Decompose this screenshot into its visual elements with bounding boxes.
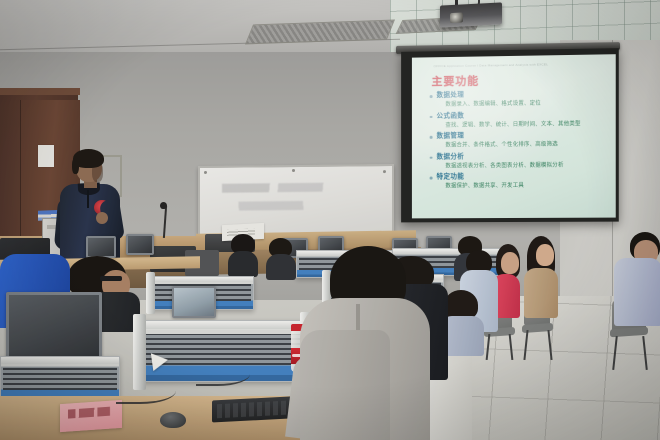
monitor-foreground[interactable] [6, 292, 102, 366]
handwriting [68, 407, 110, 419]
monitor[interactable] [126, 234, 154, 255]
slide-section: 特定功能 数据保护、数据共享、开发工具 [429, 171, 610, 191]
classroom-scene: OFFICE Application Course I Data Managem… [0, 0, 660, 440]
whiteboard-writing [222, 182, 362, 217]
slide-section-heading: 数据分析 [429, 151, 610, 163]
air-vent-panel [245, 20, 395, 45]
slide-title: 主要功能 [432, 72, 480, 89]
attendee-lavender-shirt [614, 232, 660, 324]
projection-screen-surface: OFFICE Application Course I Data Managem… [412, 54, 616, 218]
eyeglasses [100, 276, 122, 281]
projector-lens [450, 12, 463, 23]
slide-section-detail: 数据保护、数据共享、开发工具 [429, 181, 610, 191]
attendee-grey-sleeve [300, 330, 390, 440]
torso [228, 251, 258, 277]
cabinet-top [0, 88, 80, 95]
partition-top-rail [141, 321, 309, 329]
whiteboard-screw [204, 171, 207, 174]
slide-section: 公式函数 查找、逻辑、数学、统计、日期时间、文本、其他类型 [429, 109, 610, 130]
instructor-hair-side [72, 158, 79, 174]
slide-section-detail: 数据透视表分析、各类图表分析、数据模拟分析 [429, 161, 610, 171]
head [536, 244, 554, 266]
slide-section-heading: 数据管理 [429, 130, 610, 142]
monitor[interactable] [86, 236, 116, 258]
slide-section-detail: 数据合并、条件格式、个性化排序、高级筛选 [429, 140, 610, 151]
arm [300, 330, 390, 440]
partition-louvre [3, 367, 117, 390]
slide-body: 数据处理 数据录入、数据编辑、格式设置、定位 公式函数 查找、逻辑、数学、统计、… [429, 89, 610, 193]
slide-section-heading: 公式函数 [429, 109, 610, 121]
wall-notice [38, 145, 54, 167]
whiteboard-screw [383, 170, 386, 173]
projection-screen: OFFICE Application Course I Data Managem… [401, 48, 619, 222]
paper-airplane [151, 351, 169, 371]
gooseneck-microphone [160, 202, 167, 209]
partition-post [146, 272, 155, 314]
pink-name-card [60, 400, 122, 432]
slide-section-heading: 特定功能 [429, 171, 610, 182]
monitor[interactable] [172, 286, 216, 318]
head [501, 252, 519, 274]
slide-section: 数据管理 数据合并、条件格式、个性化排序、高级筛选 [429, 130, 610, 151]
partition-top-rail [1, 357, 119, 364]
torso [266, 254, 296, 280]
slide-section: 数据分析 数据透视表分析、各类图表分析、数据模拟分析 [429, 151, 610, 172]
partition-post [133, 314, 146, 390]
slide-section: 数据处理 数据录入、数据编辑、格式设置、定位 [429, 89, 610, 110]
instructor-placket [87, 190, 89, 208]
torso [524, 268, 558, 318]
partition-top-rail [151, 277, 253, 282]
whiteboard-screw [292, 169, 295, 172]
torso [614, 258, 660, 326]
attendee-tan-coat [524, 236, 560, 320]
slide-header: OFFICE Application Course I Data Managem… [434, 61, 608, 68]
instructor-hand [96, 212, 108, 224]
ceiling-projector [440, 2, 502, 27]
student-back-row [266, 238, 296, 278]
computer-mouse[interactable] [160, 412, 186, 428]
student-back-row [228, 234, 258, 274]
